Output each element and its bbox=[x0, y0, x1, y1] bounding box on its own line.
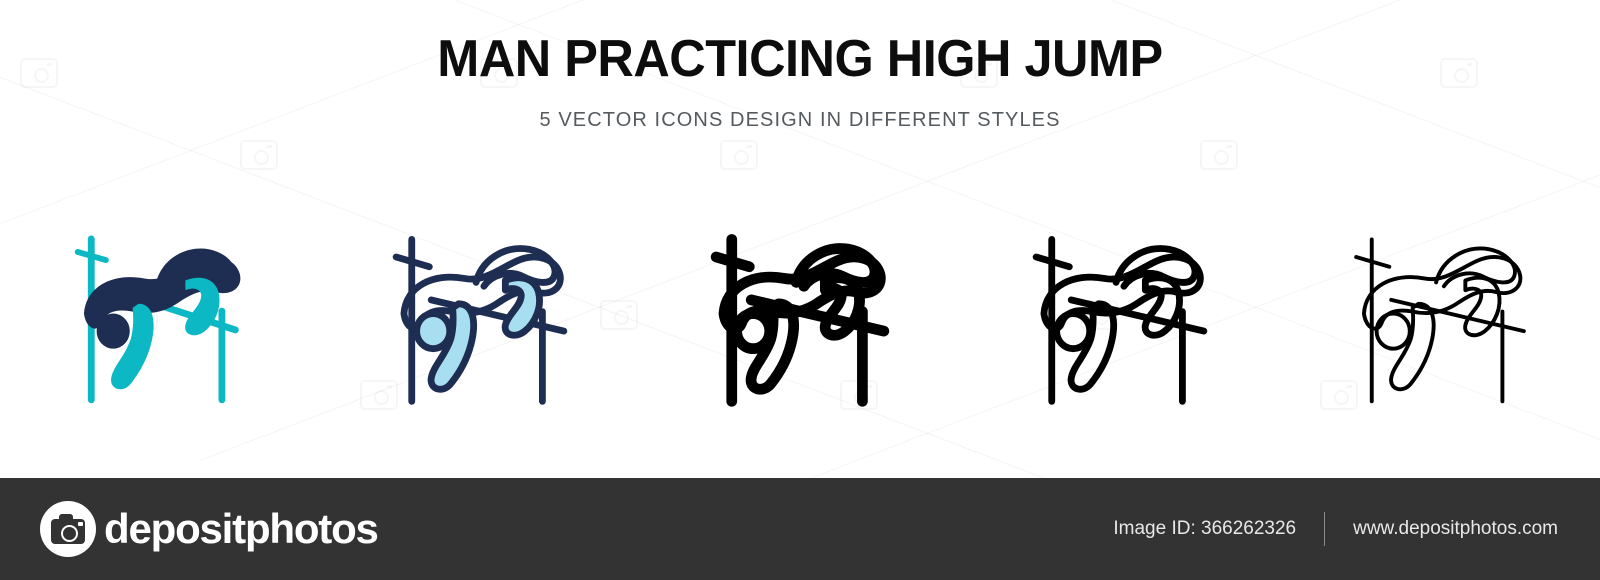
icon-gallery-row bbox=[0, 200, 1600, 430]
image-id-label: Image ID: 366262326 bbox=[1113, 518, 1296, 540]
watermark-camera-icon bbox=[720, 140, 758, 170]
icon-cell-5[interactable] bbox=[1325, 210, 1555, 420]
camera-icon bbox=[40, 501, 96, 557]
man-practicing-high-jump-filled-icon[interactable] bbox=[60, 218, 260, 413]
footer-divider bbox=[1324, 512, 1325, 546]
footer-meta: Image ID: 366262326 www.depositphotos.co… bbox=[1113, 512, 1558, 546]
page-subtitle: 5 VECTOR ICONS DESIGN IN DIFFERENT STYLE… bbox=[0, 87, 1600, 132]
man-practicing-high-jump-regular-outline-icon[interactable] bbox=[1020, 218, 1220, 413]
watermark-camera-icon bbox=[240, 140, 278, 170]
man-practicing-high-jump-bold-outline-icon[interactable] bbox=[700, 218, 900, 413]
footer-bar: depositphotos Image ID: 366262326 www.de… bbox=[0, 478, 1600, 580]
page-title: MAN PRACTICING HIGH JUMP bbox=[24, 0, 1576, 87]
header: MAN PRACTICING HIGH JUMP 5 VECTOR ICONS … bbox=[0, 0, 1600, 132]
man-practicing-high-jump-thin-outline-icon[interactable] bbox=[1340, 218, 1540, 413]
man-practicing-high-jump-duotone-outline-icon[interactable] bbox=[380, 218, 580, 413]
depositphotos-logo[interactable]: depositphotos bbox=[40, 501, 378, 557]
icon-cell-2[interactable] bbox=[365, 210, 595, 420]
site-url-link[interactable]: www.depositphotos.com bbox=[1353, 518, 1558, 540]
icon-cell-1[interactable] bbox=[45, 210, 275, 420]
watermark-camera-icon bbox=[1200, 140, 1238, 170]
brand-wordmark: depositphotos bbox=[104, 505, 378, 553]
icon-cell-3[interactable] bbox=[685, 210, 915, 420]
icon-cell-4[interactable] bbox=[1005, 210, 1235, 420]
